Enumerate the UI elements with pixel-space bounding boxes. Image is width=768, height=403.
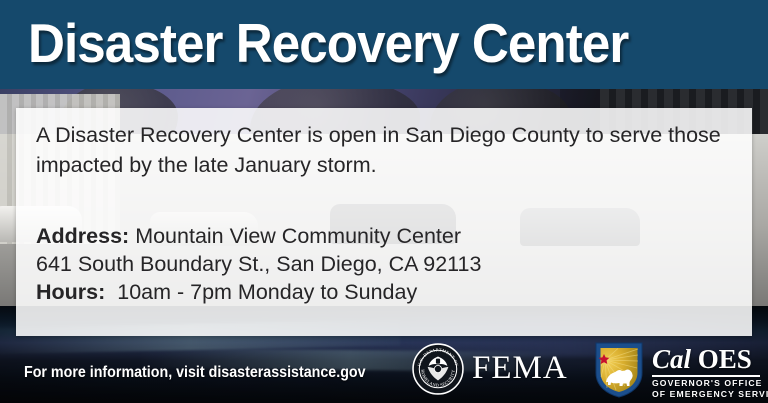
header-banner: Disaster Recovery Center bbox=[0, 0, 768, 89]
hours-label: Hours: bbox=[36, 280, 105, 304]
address-label: Address: bbox=[36, 224, 129, 248]
content-card: A Disaster Recovery Center is open in Sa… bbox=[16, 108, 752, 336]
intro-paragraph: A Disaster Recovery Center is open in Sa… bbox=[36, 120, 726, 180]
page-title: Disaster Recovery Center bbox=[28, 10, 628, 76]
address-line1: Mountain View Community Center bbox=[135, 224, 461, 248]
cal-oes-subtitle-line2: OF EMERGENCY SERVICES bbox=[652, 389, 768, 400]
hours-value: 10am - 7pm Monday to Sunday bbox=[117, 280, 417, 304]
more-information-note: For more information, visit disasterassi… bbox=[24, 364, 366, 382]
cal-oes-divider-rule bbox=[652, 375, 760, 377]
cal-oes-logo: Cal OES GOVERNOR'S OFFICE OF EMERGENCY S… bbox=[594, 339, 764, 399]
cal-oes-wordmark-oes: OES bbox=[698, 344, 752, 374]
hours-row: Hours: 10am - 7pm Monday to Sunday bbox=[36, 278, 736, 306]
disaster-recovery-center-poster: Disaster Recovery Center A Disaster Reco… bbox=[0, 0, 768, 403]
cal-oes-subtitle: GOVERNOR'S OFFICE OF EMERGENCY SERVICES bbox=[652, 378, 768, 399]
address-row: Address: Mountain View Community Center bbox=[36, 222, 736, 250]
details-block: Address: Mountain View Community Center … bbox=[36, 222, 736, 306]
fema-logo: U.S. DEPARTMENT OF HOMELAND SECURITY FEM… bbox=[412, 341, 577, 397]
cal-oes-wordmark-cal: Cal bbox=[652, 344, 691, 374]
fema-wordmark: FEMA bbox=[472, 350, 568, 386]
cal-oes-subtitle-line1: GOVERNOR'S OFFICE bbox=[652, 378, 768, 389]
dhs-seal-icon: U.S. DEPARTMENT OF HOMELAND SECURITY bbox=[412, 343, 464, 395]
california-bear-shield-icon bbox=[594, 340, 644, 398]
address-line2-row: 641 South Boundary St., San Diego, CA 92… bbox=[36, 250, 736, 278]
cal-oes-wordmark: Cal OES bbox=[652, 344, 752, 374]
